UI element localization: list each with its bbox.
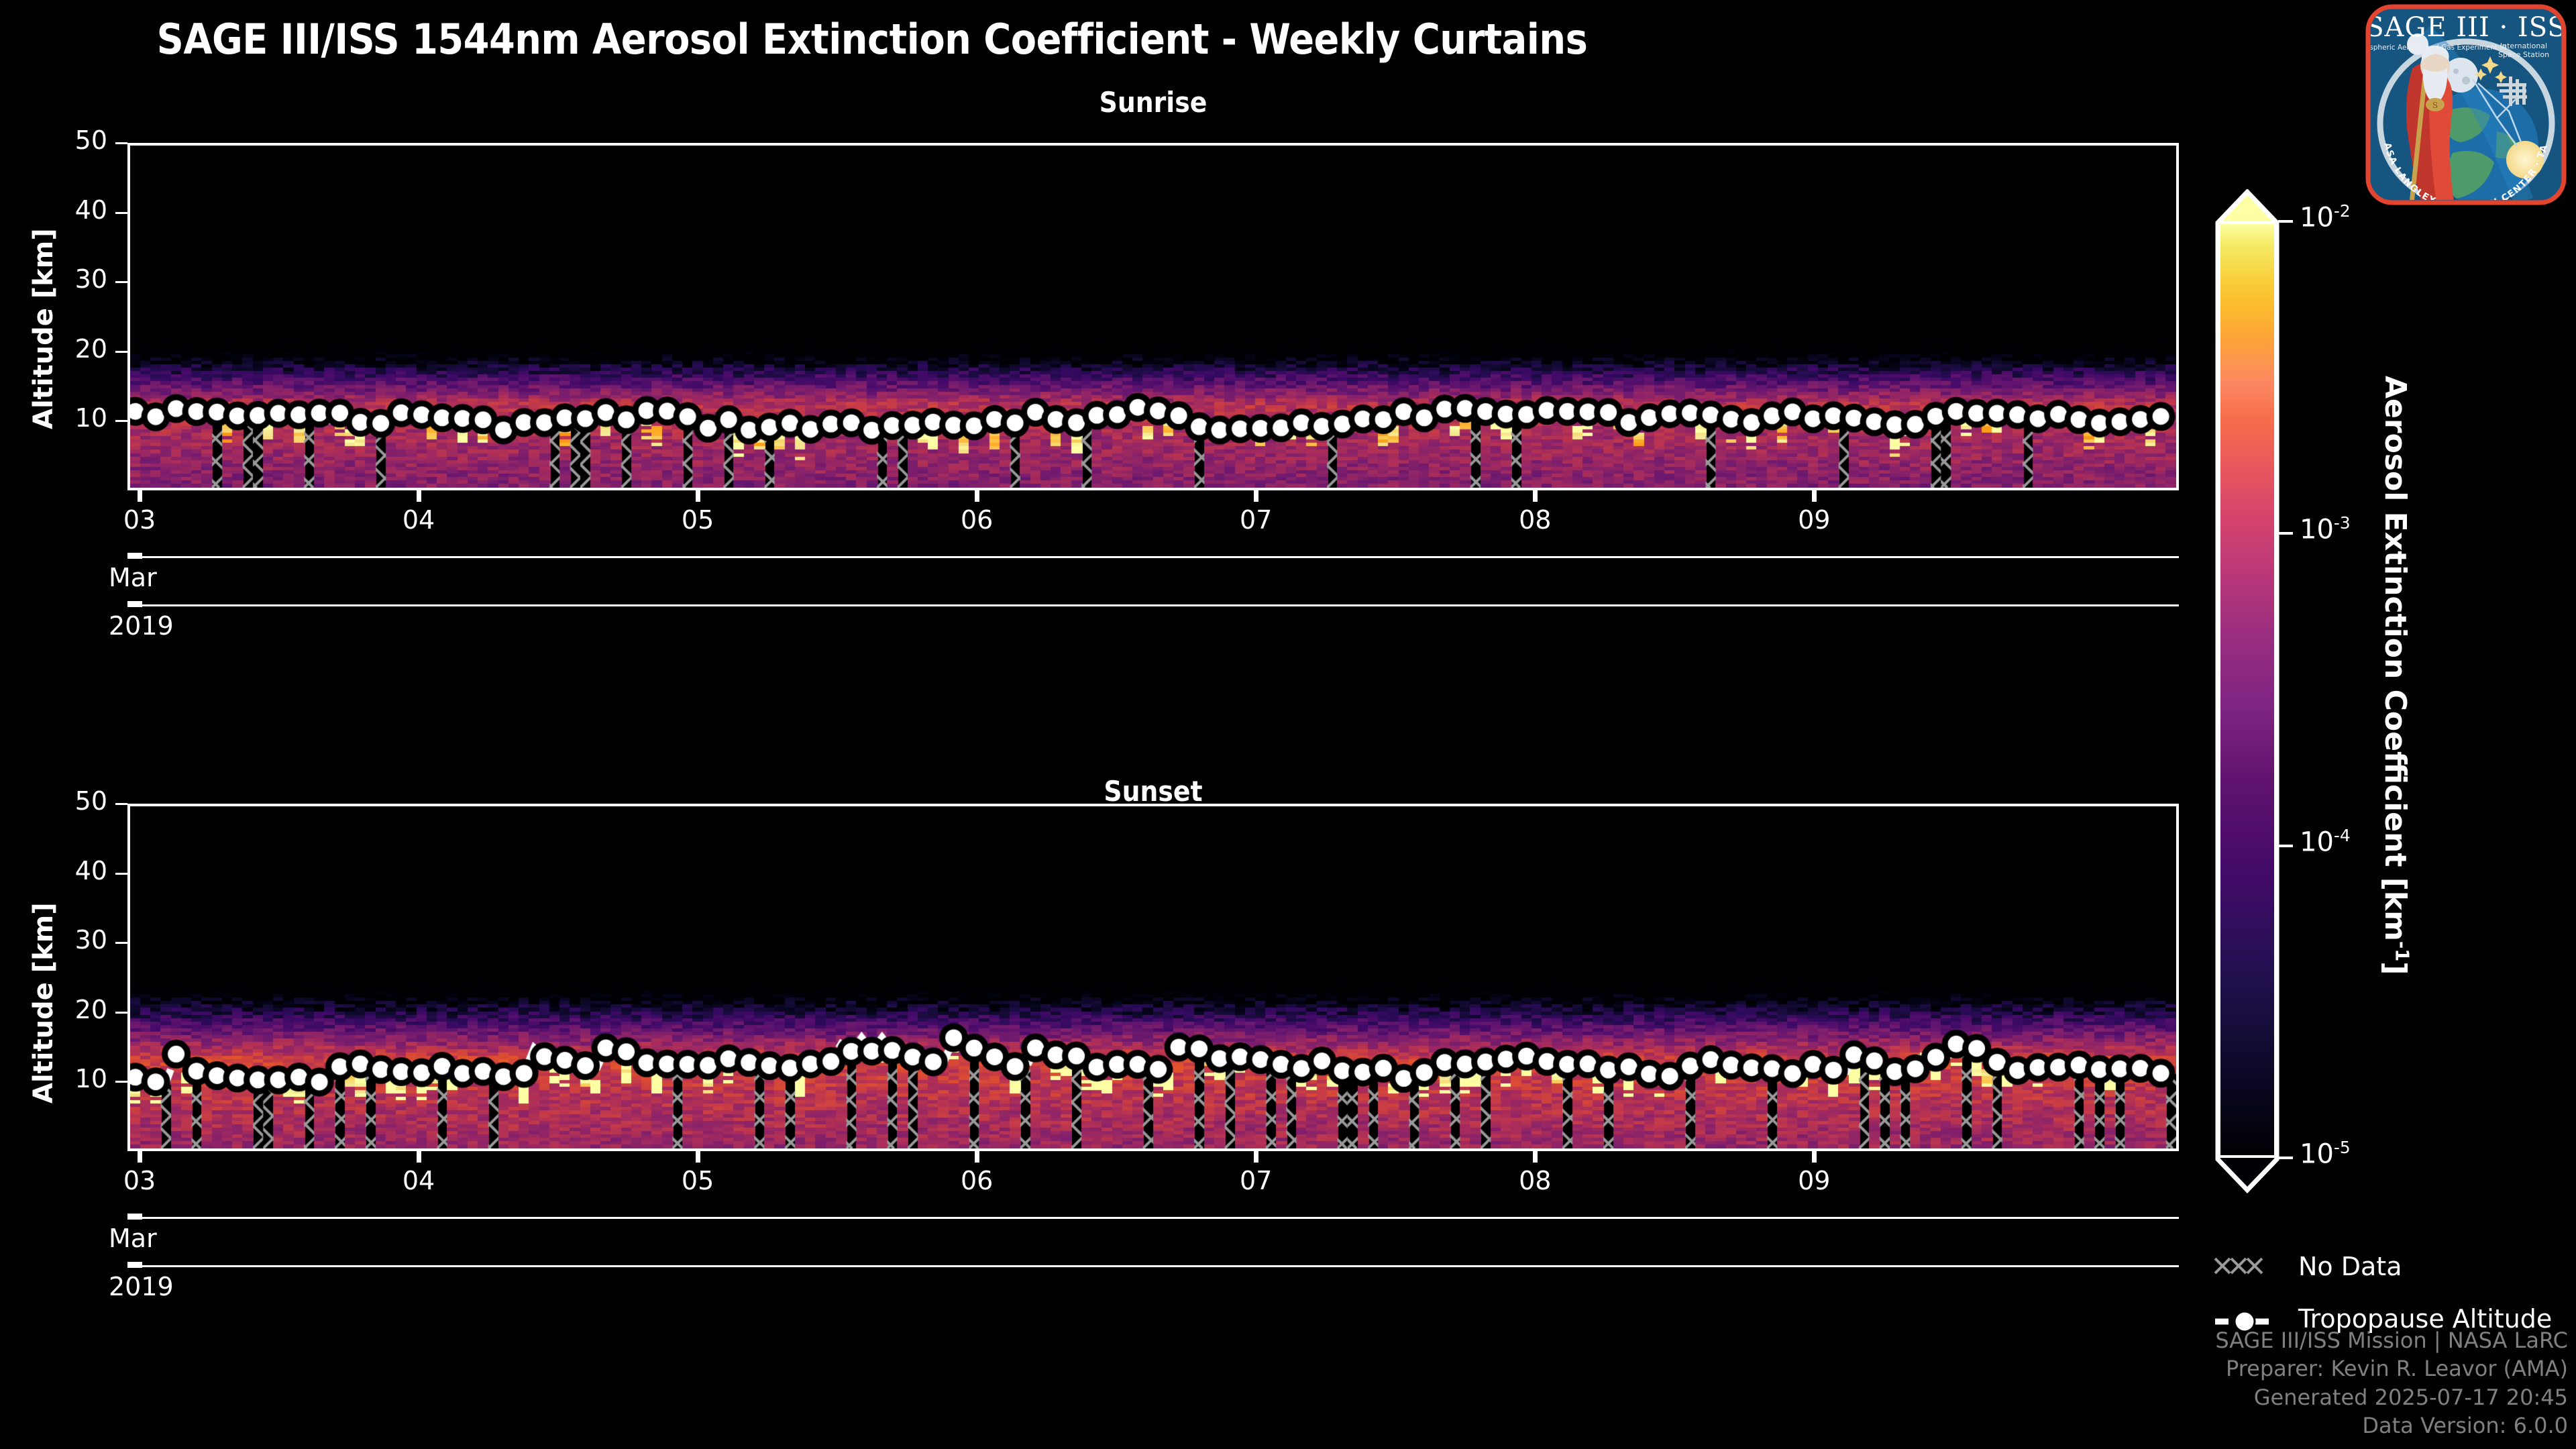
panel-title-sunset: Sunset <box>127 775 2179 808</box>
x-tick-mark-sunset-06 <box>975 1151 979 1163</box>
y-tick-label-sunrise-50: 50 <box>13 125 107 155</box>
y-tick-mark-sunset-50 <box>115 803 127 805</box>
x-tick-mark-sunset-03 <box>138 1151 142 1163</box>
colorbar-label-main: Aerosol Extinction Coefficient [km <box>2378 376 2412 941</box>
svg-text:Stratospheric Aerosol and Gas: Stratospheric Aerosol and Gas Experiment… <box>2365 44 2506 52</box>
svg-text:International: International <box>2500 42 2547 50</box>
sunset-plot-frame[interactable] <box>127 804 2179 1151</box>
y-tick-label-sunset-10: 10 <box>13 1064 107 1093</box>
date-level-rule-sunset-month <box>127 1217 2179 1219</box>
x-tick-mark-sunset-09 <box>1812 1151 1817 1163</box>
x-tick-label-sunrise-05: 05 <box>637 505 758 535</box>
no-data-hatch-icon <box>2214 1254 2275 1284</box>
x-tick-label-sunset-09: 09 <box>1754 1166 1874 1195</box>
date-level-tick-sunrise-month <box>127 553 142 559</box>
x-tick-mark-sunset-08 <box>1533 1151 1538 1163</box>
y-tick-mark-sunset-30 <box>115 942 127 944</box>
y-tick-mark-sunrise-40 <box>115 212 127 214</box>
y-tick-label-sunrise-30: 30 <box>13 264 107 294</box>
date-level-label-sunrise-month: Mar <box>109 563 157 592</box>
sunrise-plot-frame[interactable] <box>127 143 2179 490</box>
colorbar-label-tail: ] <box>2378 961 2412 975</box>
x-tick-mark-sunset-05 <box>696 1151 700 1163</box>
x-tick-mark-sunrise-09 <box>1812 490 1817 502</box>
date-level-label-sunset-month: Mar <box>109 1224 157 1253</box>
footer-credits: SAGE III/ISS Mission | NASA LaRC Prepare… <box>2215 1326 2568 1440</box>
x-tick-label-sunset-06: 06 <box>916 1166 1037 1195</box>
colorbar-outline <box>2214 189 2281 1195</box>
footer-line-mission: SAGE III/ISS Mission | NASA LaRC <box>2215 1326 2568 1354</box>
y-tick-label-sunset-30: 30 <box>13 925 107 955</box>
footer-line-preparer: Preparer: Kevin R. Leavor (AMA) <box>2215 1354 2568 1383</box>
date-level-rule-sunrise-month <box>127 556 2179 558</box>
y-tick-label-sunset-20: 20 <box>13 995 107 1024</box>
x-tick-label-sunrise-08: 08 <box>1474 505 1595 535</box>
y-tick-label-sunrise-40: 40 <box>13 195 107 225</box>
colorbar-tick-label-1e-5: 10-5 <box>2300 1138 2351 1169</box>
y-tick-mark-sunrise-30 <box>115 281 127 283</box>
svg-text:Space Station: Space Station <box>2498 50 2549 59</box>
x-tick-mark-sunrise-04 <box>417 490 421 502</box>
x-tick-label-sunrise-03: 03 <box>79 505 200 535</box>
x-tick-label-sunrise-04: 04 <box>358 505 479 535</box>
y-tick-mark-sunrise-10 <box>115 420 127 422</box>
svg-text:SAGE III · ISS: SAGE III · ISS <box>2365 12 2567 43</box>
x-tick-label-sunset-07: 07 <box>1195 1166 1316 1195</box>
y-tick-label-sunrise-10: 10 <box>13 403 107 433</box>
colorbar-tick-label-1e-2: 10-2 <box>2300 201 2351 233</box>
x-tick-mark-sunset-07 <box>1254 1151 1258 1163</box>
x-tick-mark-sunrise-07 <box>1254 490 1258 502</box>
date-level-rule-sunrise-year <box>127 604 2179 606</box>
colorbar-tick-label-1e-4: 10-4 <box>2300 826 2351 857</box>
y-tick-mark-sunrise-20 <box>115 351 127 353</box>
legend-label-no-data: No Data <box>2298 1252 2402 1281</box>
page-title: SAGE III/ISS 1544nm Aerosol Extinction C… <box>0 15 1744 64</box>
x-tick-label-sunset-04: 04 <box>358 1166 479 1195</box>
x-tick-mark-sunrise-08 <box>1533 490 1538 502</box>
y-tick-mark-sunrise-50 <box>115 142 127 144</box>
date-level-tick-sunrise-year <box>127 601 142 607</box>
y-tick-label-sunset-40: 40 <box>13 856 107 885</box>
x-tick-label-sunset-03: 03 <box>79 1166 200 1195</box>
x-tick-label-sunrise-09: 09 <box>1754 505 1874 535</box>
x-tick-mark-sunrise-03 <box>138 490 142 502</box>
footer-line-generated: Generated 2025-07-17 20:45 <box>2215 1383 2568 1411</box>
x-tick-label-sunrise-06: 06 <box>916 505 1037 535</box>
date-level-tick-sunset-year <box>127 1262 142 1268</box>
svg-text:S: S <box>2432 101 2438 110</box>
colorbar-tick-label-1e-3: 10-3 <box>2300 513 2351 545</box>
x-tick-label-sunset-08: 08 <box>1474 1166 1595 1195</box>
x-tick-mark-sunrise-05 <box>696 490 700 502</box>
y-tick-mark-sunset-10 <box>115 1081 127 1083</box>
y-tick-mark-sunset-40 <box>115 873 127 875</box>
y-tick-mark-sunset-20 <box>115 1012 127 1014</box>
x-tick-label-sunset-05: 05 <box>637 1166 758 1195</box>
date-level-label-sunset-year: 2019 <box>109 1272 174 1301</box>
colorbar-label: Aerosol Extinction Coefficient [km-1] <box>2378 376 2412 975</box>
date-level-rule-sunset-year <box>127 1265 2179 1267</box>
date-level-label-sunrise-year: 2019 <box>109 611 174 641</box>
x-tick-mark-sunset-04 <box>417 1151 421 1163</box>
y-axis-label-sunrise: Altitude [km] <box>28 228 59 429</box>
date-level-tick-sunset-month <box>127 1214 142 1220</box>
x-tick-mark-sunrise-06 <box>975 490 979 502</box>
sage-iii-iss-mission-logo: S SAGE III · ISS Stratospheric Aerosol a… <box>2365 4 2567 205</box>
y-tick-label-sunset-50: 50 <box>13 786 107 816</box>
panel-title-sunrise: Sunrise <box>127 86 2179 119</box>
x-tick-label-sunrise-07: 07 <box>1195 505 1316 535</box>
colorbar-label-exponent: -1 <box>2392 941 2412 961</box>
y-axis-label-sunset: Altitude [km] <box>28 902 59 1104</box>
footer-line-version: Data Version: 6.0.0 <box>2215 1411 2568 1440</box>
y-tick-label-sunrise-20: 20 <box>13 334 107 364</box>
